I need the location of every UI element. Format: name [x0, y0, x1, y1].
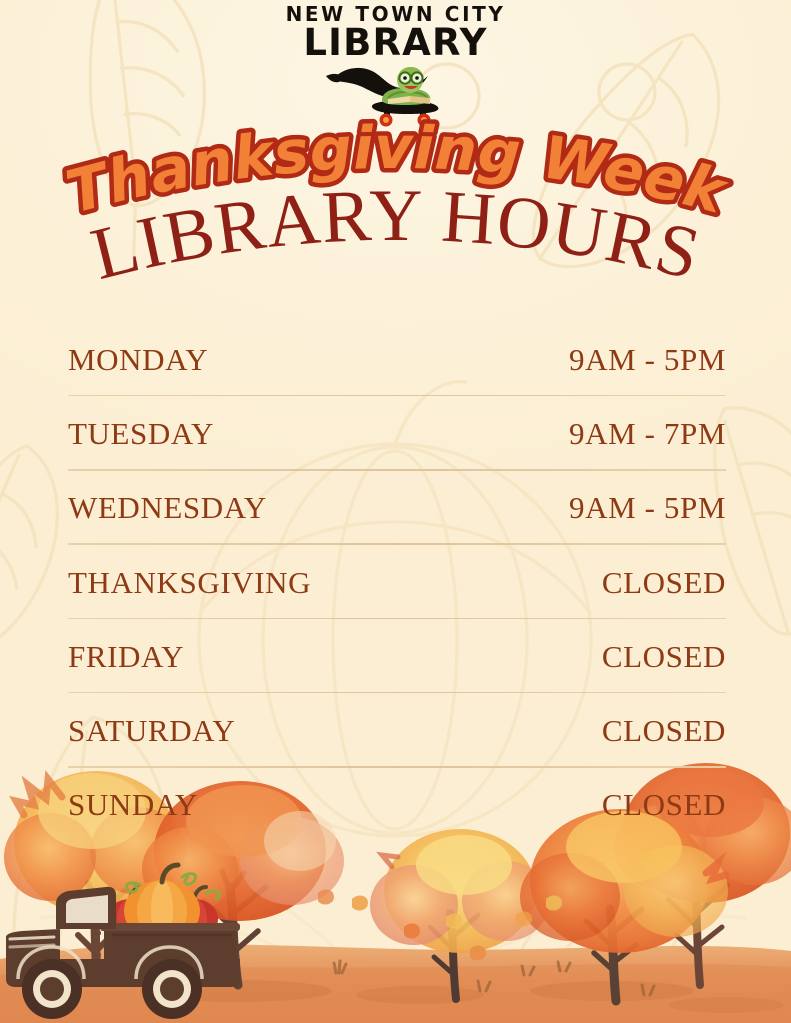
hours-value: 9AM - 5PM — [569, 344, 726, 375]
day-label: SATURDAY — [68, 715, 235, 746]
logo-line-two: LIBRARY — [0, 24, 791, 61]
hours-value: 9AM - 5PM — [569, 492, 726, 523]
table-row: THANKSGIVING CLOSED — [68, 545, 726, 619]
table-row: FRIDAY CLOSED — [68, 619, 726, 693]
hours-value: CLOSED — [602, 641, 726, 672]
hours-value: CLOSED — [602, 715, 726, 746]
day-label: FRIDAY — [68, 641, 184, 672]
thanksgiving-library-hours-poster: NEW TOWN CITY LIBRARY — [0, 0, 791, 1023]
hours-value: 9AM - 7PM — [569, 418, 726, 449]
hours-value: CLOSED — [602, 789, 726, 820]
table-row: MONDAY 9AM - 5PM — [68, 322, 726, 396]
table-row: TUESDAY 9AM - 7PM — [68, 396, 726, 470]
hours-value: CLOSED — [602, 567, 726, 598]
day-label: SUNDAY — [68, 789, 198, 820]
day-label: THANKSGIVING — [68, 567, 311, 598]
library-hours-table: MONDAY 9AM - 5PM TUESDAY 9AM - 7PM WEDNE… — [68, 322, 726, 842]
library-logo: NEW TOWN CITY LIBRARY — [0, 4, 791, 61]
table-row: WEDNESDAY 9AM - 5PM — [68, 471, 726, 545]
table-row: SATURDAY CLOSED — [68, 693, 726, 767]
poster-headline: Thanksgiving Week Thanksgiving Week LIBR… — [0, 122, 791, 312]
day-label: WEDNESDAY — [68, 492, 267, 523]
day-label: MONDAY — [68, 344, 208, 375]
day-label: TUESDAY — [68, 418, 214, 449]
table-row: SUNDAY CLOSED — [68, 768, 726, 842]
